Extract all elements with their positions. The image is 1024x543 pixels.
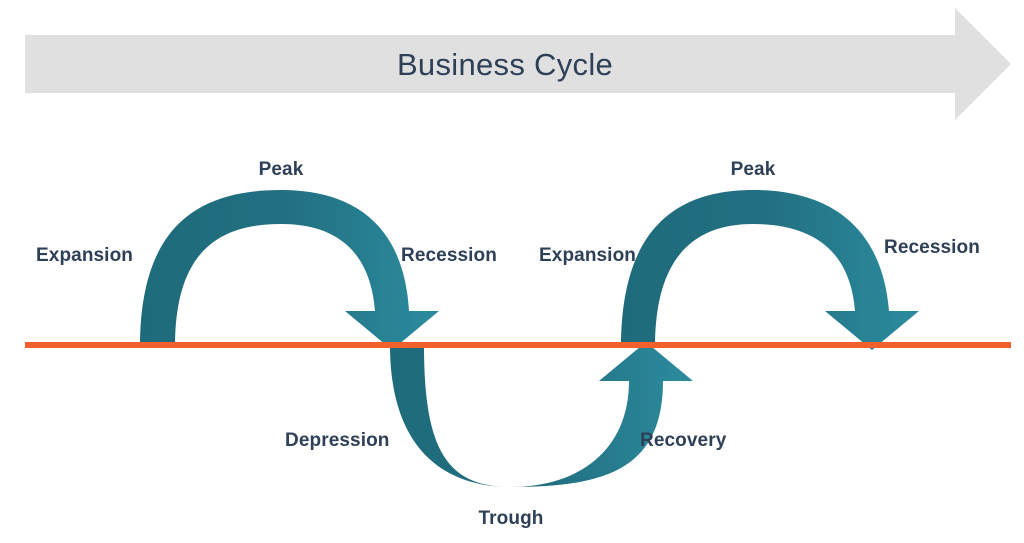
label-recession-2: Recession xyxy=(884,238,980,257)
label-recession-1: Recession xyxy=(401,246,497,265)
label-expansion-1: Expansion xyxy=(36,246,133,265)
label-peak-2: Peak xyxy=(731,160,776,179)
business-cycle-diagram: Business Cycle Expansion Peak Recession … xyxy=(0,0,1024,543)
expansion-recession-arc-1 xyxy=(140,190,439,350)
trend-line xyxy=(25,342,1011,348)
label-peak-1: Peak xyxy=(259,160,304,179)
cycle-1-upper-arc xyxy=(140,190,439,350)
expansion-recession-arc-2 xyxy=(621,190,919,350)
label-depression: Depression xyxy=(285,431,389,450)
label-recovery: Recovery xyxy=(640,431,726,450)
depression-recovery-arc xyxy=(390,342,693,487)
cycle-1-lower-arc xyxy=(390,342,693,487)
page-title: Business Cycle xyxy=(0,47,1010,83)
trend-line-group xyxy=(25,342,1011,348)
cycle-2-upper-arc xyxy=(621,190,919,350)
label-expansion-2: Expansion xyxy=(539,246,636,265)
label-trough: Trough xyxy=(479,509,544,528)
